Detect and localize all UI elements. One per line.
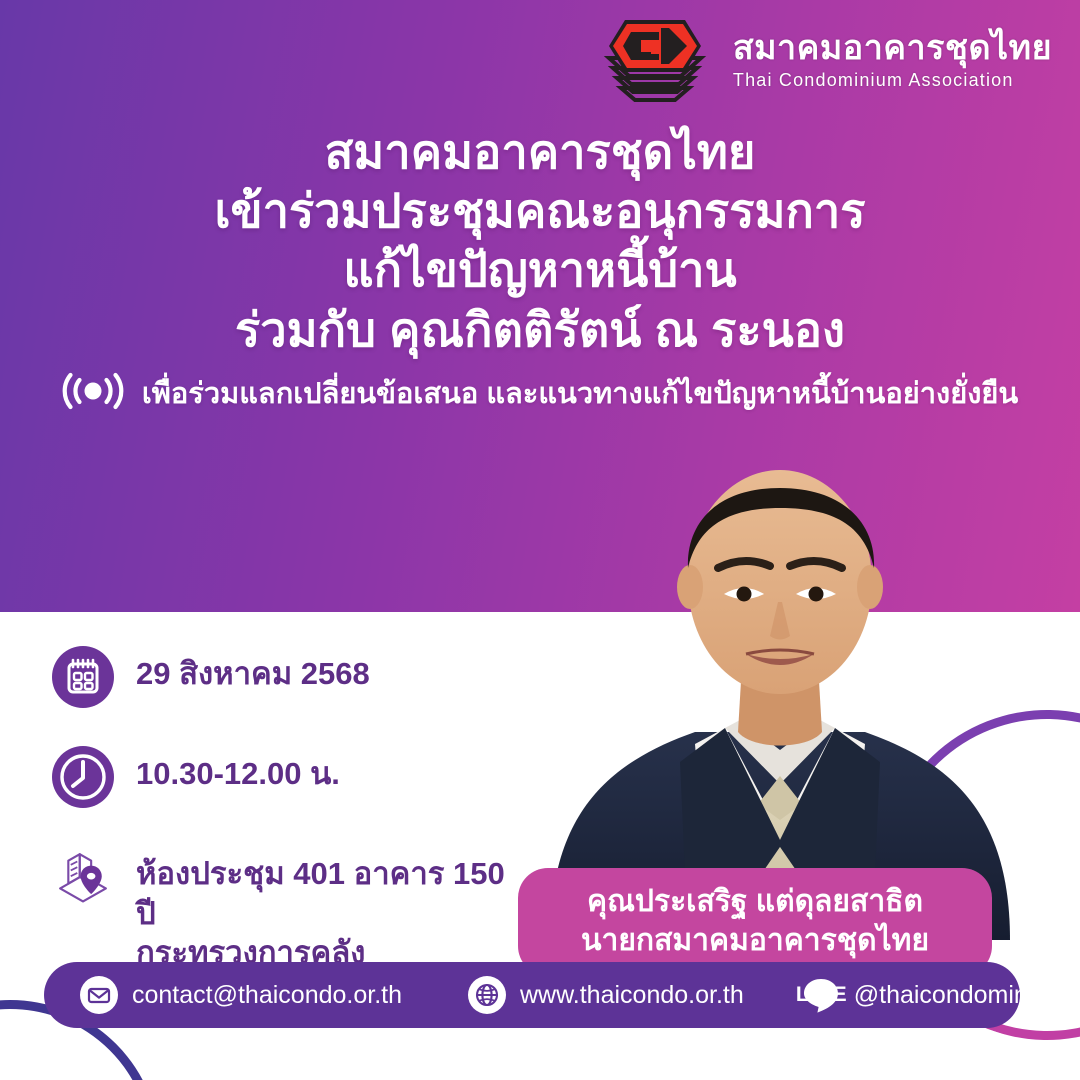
speaker-name-badge: คุณประเสริฐ แต่ดุลยสาธิต นายกสมาคมอาคารช…: [518, 868, 992, 976]
headline-line-1: สมาคมอาคารชุดไทย: [0, 122, 1080, 181]
logo-title-thai: สมาคมอาคารชุดไทย: [733, 31, 1052, 65]
subtitle-text: เพื่อร่วมแลกเปลี่ยนข้อเสนอ และแนวทางแก้ไ…: [142, 370, 1018, 416]
logo-title-english: Thai Condominium Association: [733, 71, 1052, 89]
headline-line-3: แก้ไขปัญหาหนี้บ้าน: [0, 240, 1080, 299]
headline-line-2: เข้าร่วมประชุมคณะอนุกรรมการ: [0, 181, 1080, 240]
poster-canvas: สมาคมอาคารชุดไทย Thai Condominium Associ…: [0, 0, 1080, 1080]
contact-website-label: www.thaicondo.or.th: [520, 981, 744, 1010]
speaker-title: นายกสมาคมอาคารชุดไทย: [538, 921, 972, 960]
globe-icon: [468, 976, 506, 1014]
detail-row-time: 10.30-12.00 น.: [52, 746, 522, 808]
thai-condominium-logo-icon: [591, 14, 719, 106]
brand-logo-lockup: สมาคมอาคารชุดไทย Thai Condominium Associ…: [591, 14, 1052, 106]
contact-website[interactable]: www.thaicondo.or.th: [468, 976, 744, 1014]
detail-text-time: 10.30-12.00 น.: [136, 746, 340, 794]
headline-block: สมาคมอาคารชุดไทย เข้าร่วมประชุมคณะอนุกรร…: [0, 122, 1080, 359]
building-location-icon: [52, 846, 114, 908]
contact-line[interactable]: LINE @thaicondominium: [802, 976, 1068, 1014]
detail-text-location: ห้องประชุม 401 อาคาร 150 ปี กระทรวงการคล…: [136, 846, 522, 973]
speaker-portrait: [520, 432, 1040, 940]
contact-email[interactable]: contact@thaicondo.or.th: [80, 976, 402, 1014]
broadcast-icon: [62, 371, 124, 416]
line-wordmark: LINE: [795, 983, 849, 1007]
contact-email-label: contact@thaicondo.or.th: [132, 981, 402, 1010]
detail-text-date: 29 สิงหาคม 2568: [136, 646, 370, 694]
headline-line-4: ร่วมกับ คุณกิตติรัตน์ ณ ระนอง: [0, 300, 1080, 359]
speaker-name: คุณประเสริฐ แต่ดุลยสาธิต: [538, 882, 972, 921]
clock-icon: [52, 746, 114, 808]
detail-row-location: ห้องประชุม 401 อาคาร 150 ปี กระทรวงการคล…: [52, 846, 522, 973]
subtitle-row: เพื่อร่วมแลกเปลี่ยนข้อเสนอ และแนวทางแก้ไ…: [0, 370, 1080, 416]
contact-line-label: @thaicondominium: [854, 981, 1068, 1010]
detail-text-location-line1: ห้องประชุม 401 อาคาร 150 ปี: [136, 856, 505, 931]
line-icon: LINE: [802, 976, 840, 1014]
calendar-icon: [52, 646, 114, 708]
email-icon: [80, 976, 118, 1014]
contact-bar: contact@thaicondo.or.th www.thaicondo.or…: [44, 962, 1020, 1028]
event-details-list: 29 สิงหาคม 2568 10.30-12.00 น.: [52, 646, 522, 973]
detail-row-date: 29 สิงหาคม 2568: [52, 646, 522, 708]
